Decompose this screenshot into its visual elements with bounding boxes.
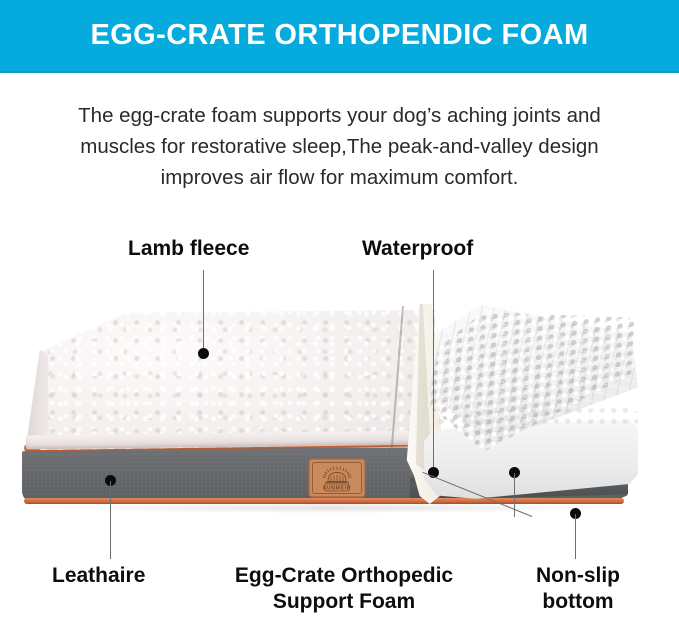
callout-label-lamb-fleece: Lamb fleece	[128, 236, 249, 262]
leader-line-leathaire	[110, 481, 111, 559]
callout-label-egg-crate-support-foam: Egg-Crate Orthopedic Support Foam	[208, 563, 480, 615]
callout-label-non-slip-bottom: Non-slip bottom	[524, 563, 632, 615]
fleece-left-edge	[26, 350, 48, 446]
leader-dot-lamb-fleece	[198, 348, 209, 359]
lamb-fleece-texture	[40, 310, 435, 450]
orange-piping-bottom	[24, 498, 624, 504]
leader-line-lamb-fleece	[203, 270, 204, 353]
callout-label-waterproof: Waterproof	[362, 236, 473, 262]
header-banner: EGG-CRATE ORTHOPENDIC FOAM	[0, 0, 679, 73]
brand-logo-text: SUNMEIR	[323, 486, 351, 492]
page-title: EGG-CRATE ORTHOPENDIC FOAM	[0, 0, 679, 71]
callout-label-leathaire: Leathaire	[52, 563, 145, 589]
brand-logo-patch: SUNMEIR	[308, 458, 366, 498]
intro-paragraph: The egg-crate foam supports your dog’s a…	[45, 100, 634, 193]
product-illustration: SUNMEIR	[0, 290, 679, 540]
leader-line-waterproof	[433, 270, 434, 472]
leader-line-non-slip-bottom	[575, 514, 576, 559]
egg-crate-foam-block	[424, 302, 638, 498]
foam-side-wall	[424, 420, 638, 502]
